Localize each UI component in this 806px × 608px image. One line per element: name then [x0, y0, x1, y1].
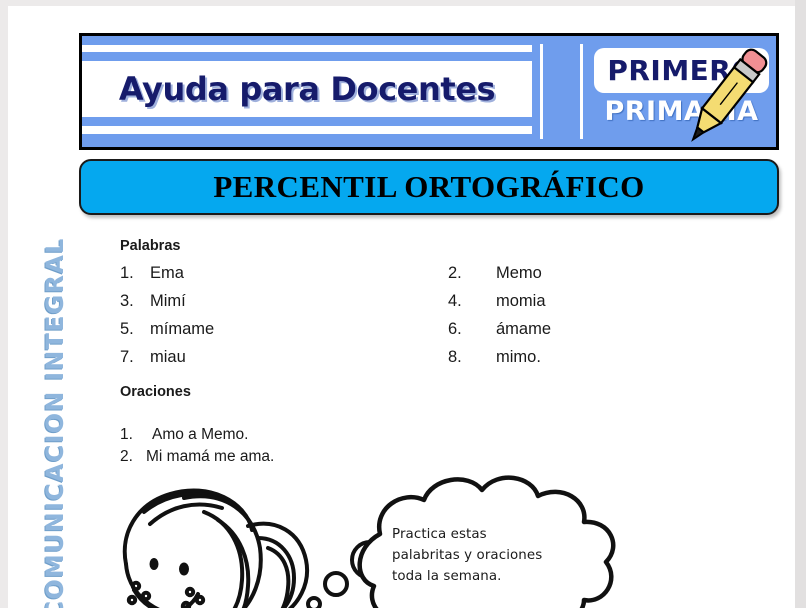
worksheet-page: COMUNICACION INTEGRAL Ayuda para Docente… — [8, 6, 795, 608]
word-text: mímame — [150, 320, 214, 339]
sentence-number: 1. — [120, 426, 152, 444]
girl-thinking-icon — [125, 490, 307, 608]
word-number: 2. — [448, 264, 496, 283]
sentence-text: Mi mamá me ama. — [146, 448, 274, 466]
sentence-text: Amo a Memo. — [152, 426, 248, 444]
worksheet-title-bar: PERCENTIL ORTOGRÁFICO — [79, 159, 779, 215]
vertical-subject-label: COMUNICACION INTEGRAL — [33, 263, 77, 593]
banner-divider-line-2 — [580, 44, 583, 139]
word-text: Ema — [150, 264, 184, 283]
sentence-item: 2. Mi mamá me ama. — [120, 448, 274, 470]
words-column-right: 2. Memo 4. momia 6. ámame 8. mimo. — [448, 264, 551, 376]
bubble-text: Practica estas palabritas y oraciones to… — [392, 524, 602, 587]
worksheet-title: PERCENTIL ORTOGRÁFICO — [213, 169, 644, 205]
word-number: 6. — [448, 320, 496, 339]
vertical-subject-text: COMUNICACION INTEGRAL — [41, 237, 69, 608]
word-item: 1. Ema — [120, 264, 214, 292]
sentences-heading: Oraciones — [120, 384, 191, 400]
word-number: 5. — [120, 320, 150, 339]
word-item: 6. ámame — [448, 320, 551, 348]
word-number: 1. — [120, 264, 150, 283]
word-item: 7. miau — [120, 348, 214, 376]
word-number: 8. — [448, 348, 496, 367]
words-heading: Palabras — [120, 238, 180, 254]
page-right-gutter — [795, 0, 806, 608]
word-item: 5. mímame — [120, 320, 214, 348]
word-item: 4. momia — [448, 292, 551, 320]
word-item: 3. Mimí — [120, 292, 214, 320]
word-text: mimo. — [496, 348, 541, 367]
header-banner: Ayuda para Docentes PRIMERO PRIMARIA — [79, 33, 779, 150]
word-text: Mimí — [150, 292, 186, 311]
word-text: momia — [496, 292, 546, 311]
word-item: 8. mimo. — [448, 348, 551, 376]
word-item: 2. Memo — [448, 264, 551, 292]
pencil-icon — [678, 36, 774, 150]
sentence-item: 1. Amo a Memo. — [120, 426, 274, 448]
word-text: Memo — [496, 264, 542, 283]
sentence-number: 2. — [120, 448, 146, 466]
banner-title: Ayuda para Docentes — [82, 61, 532, 117]
bubble-line-1: Practica estas — [392, 524, 602, 545]
word-number: 4. — [448, 292, 496, 311]
bubble-line-3: toda la semana. — [392, 566, 602, 587]
sentences-list: 1. Amo a Memo. 2. Mi mamá me ama. — [120, 426, 274, 470]
words-column-left: 1. Ema 3. Mimí 5. mímame 7. miau — [120, 264, 214, 376]
bubble-line-2: palabritas y oraciones — [392, 545, 602, 566]
word-text: ámame — [496, 320, 551, 339]
word-number: 3. — [120, 292, 150, 311]
word-number: 7. — [120, 348, 150, 367]
banner-divider-line-1 — [540, 44, 543, 139]
word-text: miau — [150, 348, 186, 367]
banner-grade-panel: PRIMERO PRIMARIA — [532, 36, 776, 147]
